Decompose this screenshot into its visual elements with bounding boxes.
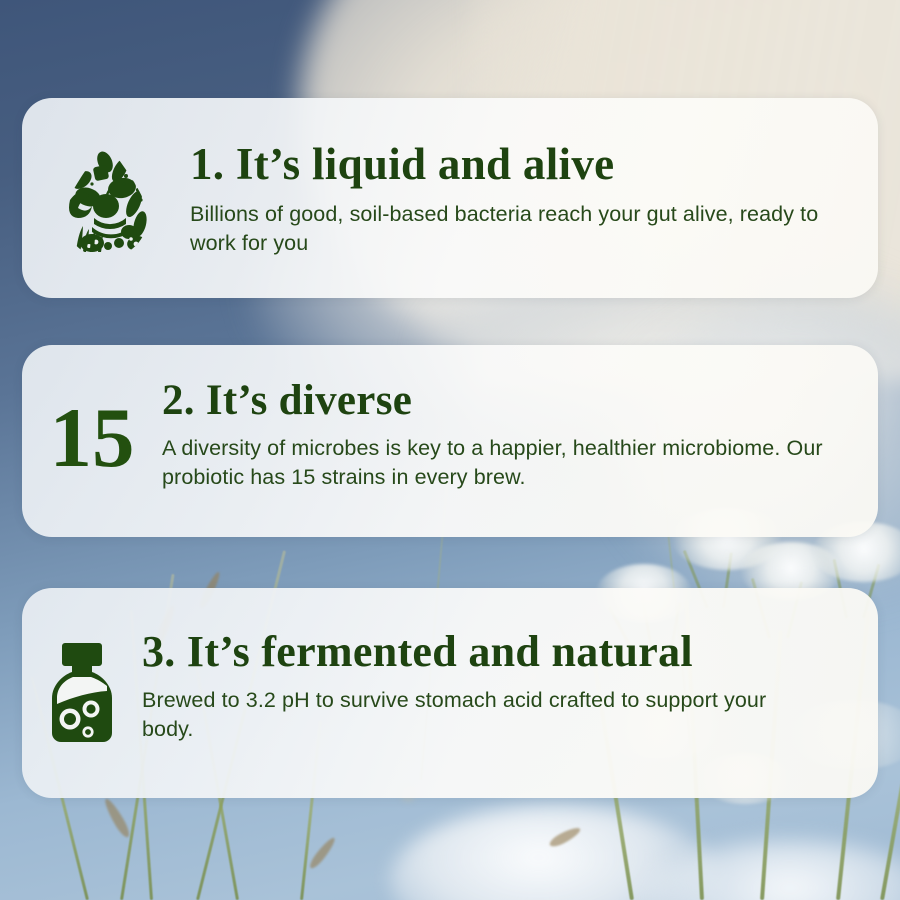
card-body: 1. It’s liquid and alive Billions of goo… <box>190 98 878 257</box>
benefit-card-liquid-and-alive[interactable]: 1. It’s liquid and alive Billions of goo… <box>22 98 878 298</box>
card-body: 2. It’s diverse A diversity of microbes … <box>162 345 878 491</box>
card-title: 3. It’s fermented and natural <box>142 588 878 674</box>
card-description: Billions of good, soil-based bacteria re… <box>190 187 850 257</box>
benefit-card-its-diverse[interactable]: 15 2. It’s diverse A diversity of microb… <box>22 345 878 537</box>
strain-count-number: 15 <box>50 396 135 487</box>
card-description: Brewed to 3.2 pH to survive stomach acid… <box>142 674 822 743</box>
card-media-slot <box>22 588 142 798</box>
card-media-slot <box>22 98 190 298</box>
card-media-slot: 15 <box>22 345 162 537</box>
droplet-microbes-icon <box>58 140 154 256</box>
benefit-card-fermented-and-natural[interactable]: 3. It’s fermented and natural Brewed to … <box>22 588 878 798</box>
poster-stage: 1. It’s liquid and alive Billions of goo… <box>0 0 900 900</box>
card-description: A diversity of microbes is key to a happ… <box>162 422 872 491</box>
bottle-bubbles-icon <box>45 641 119 745</box>
card-title: 2. It’s diverse <box>162 345 878 422</box>
benefit-card-list: 1. It’s liquid and alive Billions of goo… <box>0 0 900 900</box>
card-title: 1. It’s liquid and alive <box>190 98 878 187</box>
card-body: 3. It’s fermented and natural Brewed to … <box>142 588 878 743</box>
